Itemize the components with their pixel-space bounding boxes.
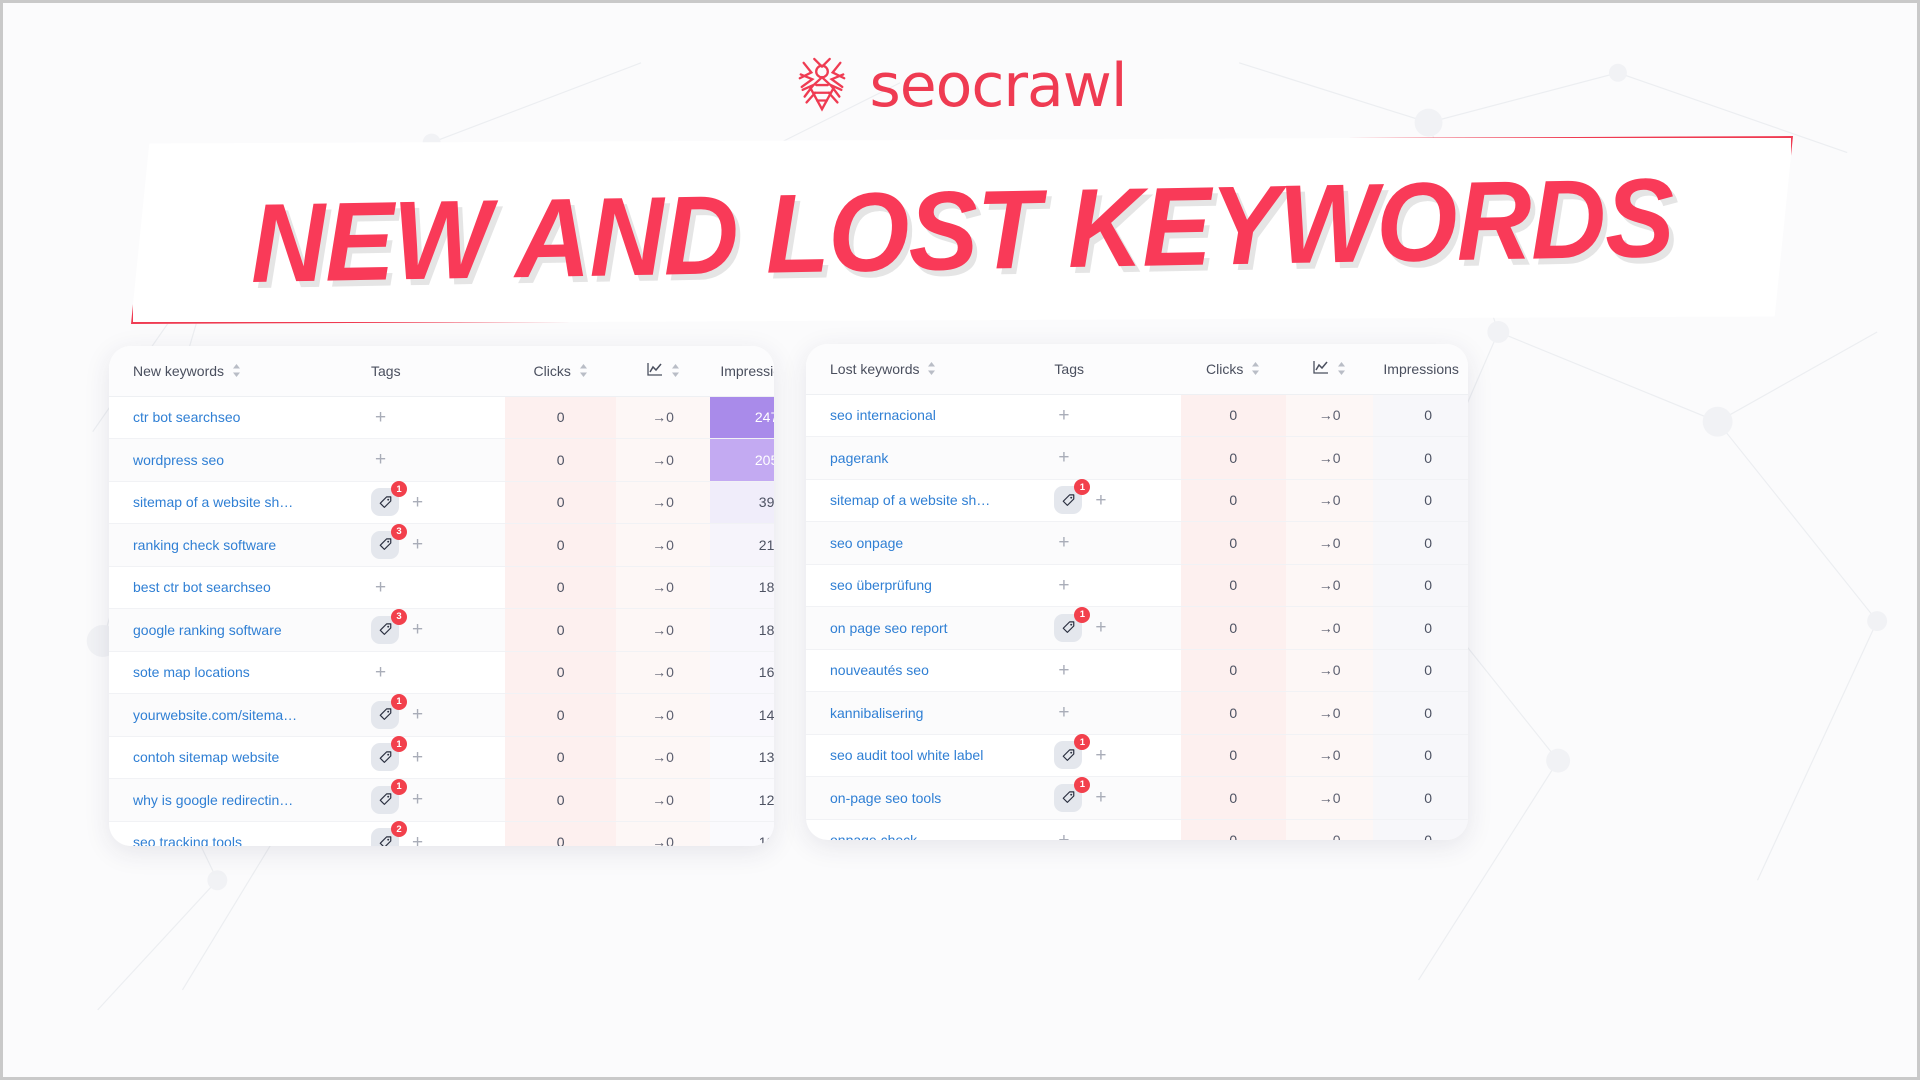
clicks-value: 0 <box>505 609 616 652</box>
clicks-value: 0 <box>1181 394 1286 437</box>
tag-icon <box>378 495 393 510</box>
impressions-value: 0 <box>1373 607 1468 650</box>
tags-cell[interactable]: + <box>357 566 505 609</box>
tag-chip[interactable]: 1 <box>1054 784 1082 812</box>
col-clicks-chart[interactable] <box>616 346 709 396</box>
keyword-link[interactable]: sitemap of a website sh… <box>806 479 1040 522</box>
clicks-value: 0 <box>1181 479 1286 522</box>
impressions-value: 0 <box>1373 692 1468 735</box>
table-header: Lost keywords Tags Clicks <box>806 344 1468 394</box>
clicks-value: 0 <box>505 439 616 482</box>
add-tag-button[interactable]: + <box>1091 491 1110 510</box>
impressions-value: 12 <box>710 821 774 846</box>
sort-icon[interactable] <box>671 364 680 377</box>
keyword-link[interactable]: on-page seo tools <box>806 777 1040 820</box>
brand-logo: seocrawl <box>3 55 1917 117</box>
keyword-link[interactable]: seo onpage <box>806 522 1040 565</box>
clicks-delta: →0 <box>1286 649 1374 692</box>
lost-keywords-card: Lost keywords Tags Clicks <box>806 344 1468 840</box>
tags-cell[interactable]: 1+ <box>1040 777 1180 820</box>
tag-count-badge: 1 <box>1074 479 1090 495</box>
keyword-link[interactable]: why is google redirectin… <box>109 779 357 822</box>
clicks-delta: →0 <box>616 779 709 822</box>
tag-icon <box>378 792 393 807</box>
impressions-value: 205 <box>710 439 774 482</box>
tag-count-badge: 1 <box>391 779 407 795</box>
tags-cell[interactable]: 3+ <box>357 524 505 567</box>
tags-cell[interactable]: + <box>1040 649 1180 692</box>
keyword-link[interactable]: contoh sitemap website <box>109 736 357 779</box>
tags-cell[interactable]: + <box>1040 522 1180 565</box>
table-row[interactable]: on-page seo tools1+0→00↓18 <box>806 777 1468 820</box>
add-tag-button[interactable]: + <box>408 790 427 809</box>
impressions-value: 0 <box>1373 777 1468 820</box>
new-keywords-table: New keywords Tags Clicks <box>109 346 774 846</box>
headline-banner: NEW AND LOST KEYWORDS <box>131 136 1793 324</box>
col-label: Lost keywords <box>830 361 919 377</box>
table-row[interactable]: seo internacional+0→00↓82 <box>806 394 1468 437</box>
add-tag-button[interactable]: + <box>408 705 427 724</box>
tag-count-badge: 2 <box>391 821 407 837</box>
sort-icon[interactable] <box>579 364 588 377</box>
clicks-delta: →0 <box>1286 394 1374 437</box>
brand-name: seocrawl <box>869 56 1126 116</box>
table-row[interactable]: sitemap of a website sh…1+0→039↑39 <box>109 481 774 524</box>
clicks-value: 0 <box>1181 734 1286 777</box>
impressions-value: 18 <box>710 566 774 609</box>
col-clicks[interactable]: Clicks <box>1181 344 1286 394</box>
tag-count-badge: 1 <box>391 481 407 497</box>
col-clicks[interactable]: Clicks <box>505 346 616 396</box>
impressions-value: 13 <box>710 736 774 779</box>
clicks-delta: →0 <box>1286 564 1374 607</box>
table-row[interactable]: kannibalisering+0→00↓20 <box>806 692 1468 735</box>
clicks-value: 0 <box>505 779 616 822</box>
tags-cell[interactable]: + <box>1040 394 1180 437</box>
add-tag-button[interactable]: + <box>1054 533 1073 552</box>
table-row[interactable]: onpage check+0→00↓18 <box>806 819 1468 840</box>
tags-cell[interactable]: + <box>1040 437 1180 480</box>
impressions-value: 247 <box>710 396 774 439</box>
tags-cell[interactable]: 1+ <box>357 779 505 822</box>
col-clicks-chart[interactable] <box>1286 344 1374 394</box>
tags-cell[interactable]: 1+ <box>1040 607 1180 650</box>
clicks-delta: →0 <box>616 396 709 439</box>
impressions-value: 0 <box>1373 734 1468 777</box>
chart-line-icon[interactable] <box>1313 360 1329 377</box>
table-row[interactable]: ctr bot searchseo+0→0247↑247 <box>109 396 774 439</box>
impressions-value: 21 <box>710 524 774 567</box>
tag-count-badge: 1 <box>1074 734 1090 750</box>
table-row[interactable]: sitemap of a website sh…1+0→00↓31 <box>806 479 1468 522</box>
table-row[interactable]: google ranking software3+0→018↑18 <box>109 609 774 652</box>
clicks-delta: →0 <box>616 651 709 694</box>
tag-count-badge: 1 <box>391 736 407 752</box>
impressions-value: 14 <box>710 694 774 737</box>
col-label: Tags <box>1054 361 1084 377</box>
keyword-link[interactable]: seo überprüfung <box>806 564 1040 607</box>
clicks-value: 0 <box>1181 692 1286 735</box>
clicks-value: 0 <box>505 524 616 567</box>
new-keywords-card: New keywords Tags Clicks <box>109 346 774 846</box>
impressions-value: 0 <box>1373 649 1468 692</box>
table-row[interactable]: nouveautés seo+0→00↓22 <box>806 649 1468 692</box>
clicks-value: 0 <box>1181 564 1286 607</box>
clicks-value: 0 <box>1181 819 1286 840</box>
table-row[interactable]: pagerank+0→00↓59 <box>806 437 1468 480</box>
clicks-delta: →0 <box>616 524 709 567</box>
table-row[interactable]: on page seo report1+0→00↓23 <box>806 607 1468 650</box>
impressions-value: 0 <box>1373 437 1468 480</box>
add-tag-button[interactable]: + <box>1091 788 1110 807</box>
tag-icon <box>1061 748 1076 763</box>
tag-icon <box>1061 620 1076 635</box>
impressions-value: 12 <box>710 779 774 822</box>
tags-cell[interactable]: 1+ <box>357 694 505 737</box>
keyword-link[interactable]: seo tracking tools <box>109 821 357 846</box>
clicks-value: 0 <box>505 566 616 609</box>
tag-count-badge: 1 <box>1074 777 1090 793</box>
sort-icon[interactable] <box>1337 362 1346 375</box>
table-row[interactable]: seo audit tool white label1+0→00↓19 <box>806 734 1468 777</box>
tag-chip[interactable]: 1 <box>371 743 399 771</box>
tag-chip[interactable]: 3 <box>371 531 399 559</box>
clicks-delta: →0 <box>1286 479 1374 522</box>
keyword-link[interactable]: google ranking software <box>109 609 357 652</box>
clicks-value: 0 <box>505 694 616 737</box>
keyword-link[interactable]: best ctr bot searchseo <box>109 566 357 609</box>
table-row[interactable]: contoh sitemap website1+0→013↑13 <box>109 736 774 779</box>
clicks-delta: →0 <box>616 439 709 482</box>
lost-keywords-rows: seo internacional+0→00↓82pagerank+0→00↓5… <box>806 394 1468 840</box>
col-label: Impressions <box>1383 361 1458 377</box>
clicks-value: 0 <box>505 821 616 846</box>
tag-count-badge: 1 <box>1074 607 1090 623</box>
clicks-value: 0 <box>505 651 616 694</box>
tag-chip[interactable]: 1 <box>371 701 399 729</box>
col-label: Clicks <box>533 363 570 379</box>
add-tag-button[interactable]: + <box>1054 703 1073 722</box>
keyword-link[interactable]: ctr bot searchseo <box>109 396 357 439</box>
spider-icon <box>793 55 851 117</box>
tag-chip[interactable]: 1 <box>1054 614 1082 642</box>
col-label: New keywords <box>133 363 224 379</box>
clicks-value: 0 <box>1181 522 1286 565</box>
clicks-delta: →0 <box>616 609 709 652</box>
add-tag-button[interactable]: + <box>371 450 390 469</box>
clicks-delta: →0 <box>616 821 709 846</box>
tag-icon <box>378 750 393 765</box>
keyword-link[interactable]: on page seo report <box>806 607 1040 650</box>
impressions-value: 39 <box>710 481 774 524</box>
table-row[interactable]: yourwebsite.com/sitema…1+0→014↑14 <box>109 694 774 737</box>
add-tag-button[interactable]: + <box>408 748 427 767</box>
tag-chip[interactable]: 1 <box>1054 486 1082 514</box>
tag-icon <box>1061 493 1076 508</box>
impressions-value: 0 <box>1373 479 1468 522</box>
table-row[interactable]: seo onpage+0→00↓27 <box>806 522 1468 565</box>
add-tag-button[interactable]: + <box>1054 448 1073 467</box>
clicks-delta: →0 <box>616 694 709 737</box>
table-row[interactable]: seo überprüfung+0→00↓25 <box>806 564 1468 607</box>
clicks-value: 0 <box>1181 649 1286 692</box>
clicks-delta: →0 <box>1286 819 1374 840</box>
keyword-link[interactable]: wordpress seo <box>109 439 357 482</box>
chart-line-icon[interactable] <box>647 362 663 379</box>
keyword-link[interactable]: yourwebsite.com/sitema… <box>109 694 357 737</box>
col-label: Clicks <box>1206 361 1243 377</box>
clicks-value: 0 <box>1181 437 1286 480</box>
keyword-link[interactable]: sote map locations <box>109 651 357 694</box>
col-impressions[interactable]: Impressions <box>710 346 774 396</box>
tag-chip[interactable]: 1 <box>371 786 399 814</box>
col-tags: Tags <box>357 346 505 396</box>
new-keywords-rows: ctr bot searchseo+0→0247↑247wordpress se… <box>109 396 774 846</box>
add-tag-button[interactable]: + <box>1091 618 1110 637</box>
tags-cell[interactable]: 1+ <box>357 481 505 524</box>
tag-chip[interactable]: 2 <box>371 828 399 846</box>
clicks-delta: →0 <box>1286 607 1374 650</box>
add-tag-button[interactable]: + <box>1054 661 1073 680</box>
tag-icon <box>378 622 393 637</box>
tag-icon <box>1061 790 1076 805</box>
tag-count-badge: 1 <box>391 694 407 710</box>
impressions-value: 18 <box>710 609 774 652</box>
sort-icon[interactable] <box>232 364 241 377</box>
impressions-value: 16 <box>710 651 774 694</box>
tag-icon <box>378 835 393 846</box>
table-row[interactable]: ranking check software3+0→021↑21 <box>109 524 774 567</box>
tags-cell[interactable]: 2+ <box>357 821 505 846</box>
tags-cell[interactable]: + <box>357 396 505 439</box>
sort-icon[interactable] <box>1251 362 1260 375</box>
table-row[interactable]: best ctr bot searchseo+0→018↑18 <box>109 566 774 609</box>
tags-cell[interactable]: + <box>1040 564 1180 607</box>
keyword-link[interactable]: seo internacional <box>806 394 1040 437</box>
add-tag-button[interactable]: + <box>1091 746 1110 765</box>
clicks-delta: →0 <box>616 566 709 609</box>
lost-keywords-table: Lost keywords Tags Clicks <box>806 344 1468 840</box>
tag-count-badge: 3 <box>391 524 407 540</box>
impressions-value: 0 <box>1373 522 1468 565</box>
headline-text: NEW AND LOST KEYWORDS <box>188 122 1737 338</box>
tag-count-badge: 3 <box>391 609 407 625</box>
tags-cell[interactable]: 1+ <box>1040 479 1180 522</box>
add-tag-button[interactable]: + <box>371 408 390 427</box>
table-row[interactable]: wordpress seo+0→0205↑205 <box>109 439 774 482</box>
add-tag-button[interactable]: + <box>371 578 390 597</box>
add-tag-button[interactable]: + <box>1054 406 1073 425</box>
col-label: Tags <box>371 363 401 379</box>
keyword-link[interactable]: sitemap of a website sh… <box>109 481 357 524</box>
keyword-link[interactable]: nouveautés seo <box>806 649 1040 692</box>
table-row[interactable]: seo tracking tools2+0→012 <box>109 821 774 846</box>
clicks-delta: →0 <box>616 481 709 524</box>
tag-icon <box>378 707 393 722</box>
sort-icon[interactable] <box>1467 362 1468 375</box>
clicks-value: 0 <box>505 736 616 779</box>
clicks-value: 0 <box>1181 607 1286 650</box>
add-tag-button[interactable]: + <box>408 535 427 554</box>
tags-cell[interactable]: + <box>357 651 505 694</box>
sort-icon[interactable] <box>927 362 936 375</box>
col-label: Impressions <box>720 363 774 379</box>
add-tag-button[interactable]: + <box>408 833 427 846</box>
table-row[interactable]: sote map locations+0→016↑16 <box>109 651 774 694</box>
impressions-value: 0 <box>1373 394 1468 437</box>
col-impressions[interactable]: Impressions <box>1373 344 1468 394</box>
keyword-link[interactable]: seo audit tool white label <box>806 734 1040 777</box>
keyword-link[interactable]: onpage check <box>806 819 1040 840</box>
keyword-link[interactable]: pagerank <box>806 437 1040 480</box>
clicks-value: 0 <box>505 396 616 439</box>
col-new-keywords[interactable]: New keywords <box>109 346 357 396</box>
tags-cell[interactable]: 1+ <box>1040 734 1180 777</box>
col-tags: Tags <box>1040 344 1180 394</box>
impressions-value: 0 <box>1373 819 1468 840</box>
add-tag-button[interactable]: + <box>1054 576 1073 595</box>
tag-chip[interactable]: 1 <box>1054 741 1082 769</box>
tags-cell[interactable]: + <box>357 439 505 482</box>
clicks-delta: →0 <box>1286 777 1374 820</box>
add-tag-button[interactable]: + <box>408 493 427 512</box>
table-row[interactable]: why is google redirectin…1+0→012↑12 <box>109 779 774 822</box>
tag-chip[interactable]: 3 <box>371 616 399 644</box>
clicks-delta: →0 <box>616 736 709 779</box>
keyword-link[interactable]: kannibalisering <box>806 692 1040 735</box>
tags-cell[interactable]: 1+ <box>357 736 505 779</box>
clicks-delta: →0 <box>1286 437 1374 480</box>
tag-icon <box>378 537 393 552</box>
clicks-delta: →0 <box>1286 522 1374 565</box>
col-lost-keywords[interactable]: Lost keywords <box>806 344 1040 394</box>
add-tag-button[interactable]: + <box>371 663 390 682</box>
add-tag-button[interactable]: + <box>1054 831 1073 840</box>
table-header: New keywords Tags Clicks <box>109 346 774 396</box>
tags-cell[interactable]: + <box>1040 692 1180 735</box>
tag-chip[interactable]: 1 <box>371 488 399 516</box>
keyword-link[interactable]: ranking check software <box>109 524 357 567</box>
add-tag-button[interactable]: + <box>408 620 427 639</box>
clicks-value: 0 <box>1181 777 1286 820</box>
impressions-value: 0 <box>1373 564 1468 607</box>
clicks-value: 0 <box>505 481 616 524</box>
tags-cell[interactable]: 3+ <box>357 609 505 652</box>
clicks-delta: →0 <box>1286 692 1374 735</box>
tags-cell[interactable]: + <box>1040 819 1180 840</box>
clicks-delta: →0 <box>1286 734 1374 777</box>
